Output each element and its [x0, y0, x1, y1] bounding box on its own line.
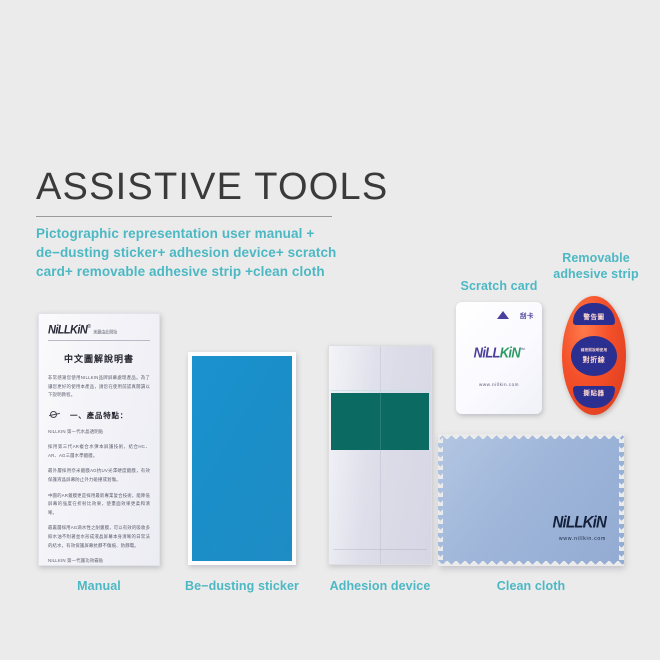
page-subtitle: Pictographic representation user manual … — [36, 224, 354, 281]
manual-booklet: NiLLKiN®美麗由此開始 中文圖解說明書 非常感謝您使用NILLKIN品牌屏… — [38, 313, 160, 566]
magnifier-icon — [48, 410, 65, 421]
cloth-brand-name: NiLLKiN — [552, 513, 606, 532]
manual-header-rule — [48, 340, 150, 341]
manual-paragraph: NILLKIN 第一代水晶透明貼 — [48, 428, 150, 437]
scratch-card-url: www.nillkin.com — [464, 382, 534, 387]
scratch-card-top-row: 刮卡 — [464, 309, 534, 321]
manual-paragraph: NILLKIN 第一代護功效霧貼 — [48, 557, 150, 566]
strip-label-bottom: 撕貼器 — [573, 386, 615, 408]
manual-paragraph: 中圖的AR鍍膜更是採用最新專業复合技術，能降低屏幕的強度在折射比效果，使畫面效果… — [48, 492, 150, 518]
adhesion-bottom-edge — [333, 549, 427, 550]
removable-adhesive-strip: 警告圖 請按照說明使用 對折線 撕貼器 — [562, 296, 626, 415]
cloth-url: www.nillkin.com — [552, 536, 606, 542]
strip-label-middle-main: 對折線 — [583, 355, 606, 365]
manual-section-heading: 一、產品特點： — [48, 410, 150, 421]
scratch-card-brand-logo: NiLLKiN™ — [464, 344, 534, 361]
adhesion-green-band — [331, 393, 429, 450]
cloth-edge-top — [438, 434, 624, 439]
manual-paragraph: 最裏層採用AG滴水性之耐鍍膜，可以有效的吸收多餘水油不附著並水形成液晶屏幕本身清… — [48, 524, 150, 550]
caption-dusting-sticker: Be−dusting sticker — [176, 578, 308, 594]
cloth-edge-left — [438, 434, 443, 566]
clean-cloth: NiLLKiN www.nillkin.com — [438, 434, 624, 566]
triangle-up-icon — [497, 311, 509, 319]
strip-label-middle: 請按照說明使用 對折線 — [571, 336, 617, 376]
title-divider — [36, 216, 332, 217]
manual-intro: 非常感謝您使用NILLKIN品牌屏幕處理產品。為了讓您更好的使用本產品，請您在使… — [48, 374, 150, 400]
strip-label-top: 警告圖 — [573, 303, 615, 325]
heading-block: ASSISTIVE TOOLS Pictographic representat… — [36, 168, 366, 281]
caption-scratch-card: Scratch card — [446, 278, 552, 294]
manual-doc-title: 中文圖解說明書 — [48, 352, 150, 365]
caption-adhesion-device: Adhesion device — [316, 578, 444, 594]
manual-brand-logo: NiLLKiN®美麗由此開始 — [48, 323, 150, 336]
adhesion-hairline — [331, 390, 429, 391]
page-title: ASSISTIVE TOOLS — [36, 168, 366, 208]
adhesion-crease — [380, 346, 381, 564]
cloth-brand-logo: NiLLKiN www.nillkin.com — [552, 514, 606, 542]
caption-manual: Manual — [38, 578, 160, 594]
scratch-card-cn-label: 刮卡 — [520, 310, 534, 320]
caption-clean-cloth: Clean cloth — [468, 578, 594, 594]
cloth-edge-right — [619, 434, 624, 566]
dusting-sticker — [188, 352, 296, 565]
cloth-edge-bottom — [438, 561, 624, 566]
dusting-sticker-face — [192, 356, 292, 561]
adhesion-device — [328, 345, 432, 565]
scratch-card: 刮卡 NiLLKiN™ www.nillkin.com — [456, 302, 542, 414]
manual-paragraph: 採用第三代AR複合水彈本屏護技術，結合HC、AR、AG三層水學鍍膜。 — [48, 443, 150, 460]
strip-label-middle-small: 請按照說明使用 — [581, 348, 608, 353]
manual-paragraph: 最外層採用奈米鍍膜AG抗UV光澤硬度鍍膜，有效保護液晶屏幕防止外力碰撞或划傷。 — [48, 467, 150, 484]
caption-adhesive-strip: Removable adhesive strip — [546, 250, 646, 282]
